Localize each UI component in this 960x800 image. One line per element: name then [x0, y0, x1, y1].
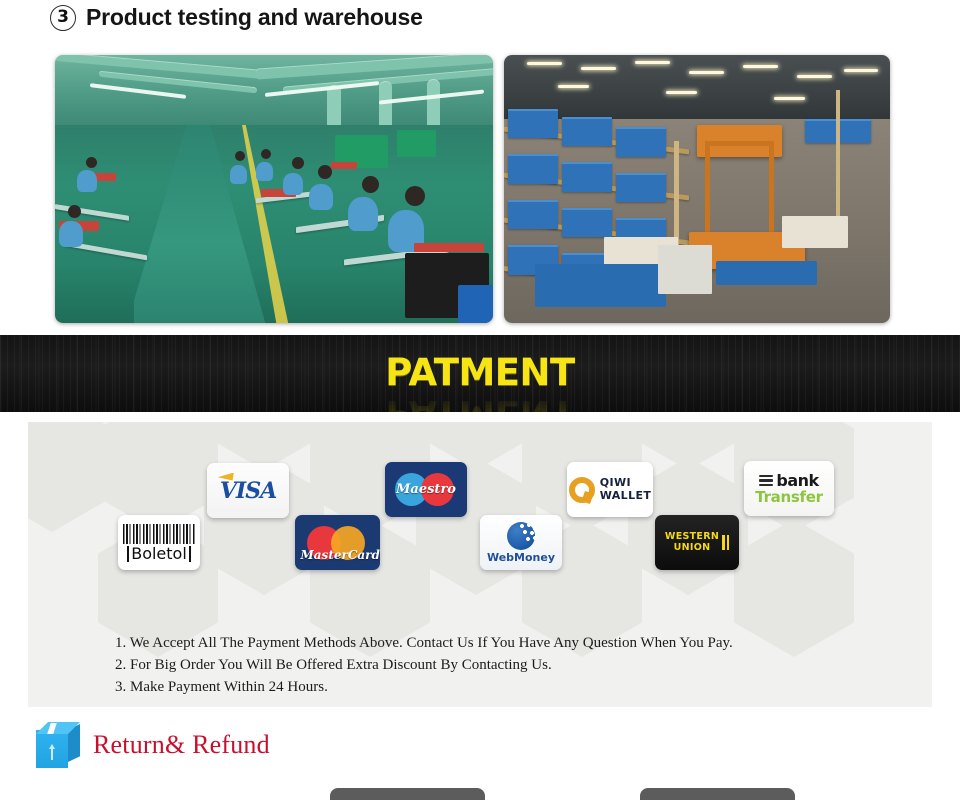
payment-method-qiwi[interactable]: QIWI WALLET [567, 462, 653, 517]
payment-banner-title: PATMENT [0, 351, 960, 394]
payment-method-western-union[interactable]: WESTERN UNION [655, 515, 739, 570]
payment-method-boleto[interactable]: Boletol [118, 515, 200, 570]
payment-method-label: VISA [220, 478, 276, 504]
payment-method-label: MasterCard [301, 548, 375, 562]
section-heading: 3 Product testing and warehouse [50, 4, 423, 31]
section-title: Product testing and warehouse [86, 4, 423, 31]
bank-label: bank [776, 473, 818, 489]
section-number-badge: 3 [50, 5, 76, 31]
bottom-tab-left[interactable] [330, 788, 485, 800]
maestro-icon: Maestro [391, 470, 461, 510]
webmoney-icon [507, 522, 535, 550]
payment-note: 1. We Accept All The Payment Methods Abo… [115, 632, 733, 654]
webmoney-pixels-icon [519, 523, 539, 543]
visa-icon: VISA [220, 478, 276, 504]
package-box-icon [36, 722, 80, 768]
product-detail-page: 3 Product testing and warehouse [0, 0, 960, 800]
mastercard-icon: MasterCard [301, 522, 375, 564]
qiwi-label-line1: QIWI [600, 477, 652, 490]
payment-notes: 1. We Accept All The Payment Methods Abo… [115, 632, 733, 698]
boleto-barcode-icon [123, 524, 195, 544]
western-union-icon: WESTERN UNION [665, 532, 729, 553]
bank-speed-lines-icon [759, 475, 773, 487]
bank-transfer-icon: bank [759, 473, 818, 489]
payment-method-visa[interactable]: VISA [207, 463, 289, 518]
transfer-label: Transfer [755, 490, 822, 505]
payment-method-maestro[interactable]: Maestro [385, 462, 467, 517]
payment-method-label: WebMoney [487, 551, 555, 564]
return-refund-title: Return& Refund [93, 730, 270, 760]
payment-method-webmoney[interactable]: WebMoney [480, 515, 562, 570]
western-union-bars-icon [722, 535, 729, 550]
payment-method-mastercard[interactable]: MasterCard [295, 515, 380, 570]
qiwi-wallet-icon [569, 477, 595, 503]
return-refund-section: Return& Refund [36, 722, 270, 768]
payment-method-label: QIWI WALLET [600, 477, 652, 502]
photo-warehouse-storage [504, 55, 890, 323]
payment-note: 2. For Big Order You Will Be Offered Ext… [115, 654, 733, 676]
wu-label-line2: UNION [665, 543, 719, 553]
payment-note: 3. Make Payment Within 24 Hours. [115, 676, 733, 698]
wu-label-line1: WESTERN [665, 532, 719, 542]
payment-method-label: Boletol [127, 546, 191, 562]
payment-banner-reflection: PATMENT [0, 392, 960, 412]
qiwi-label-line2: WALLET [600, 490, 652, 503]
payment-method-bank-transfer[interactable]: bank Transfer [744, 461, 834, 516]
payment-banner: PATMENT PATMENT [0, 335, 960, 412]
payment-method-label: WESTERN UNION [665, 532, 719, 553]
payment-method-label: Maestro [391, 482, 461, 497]
bottom-tab-right[interactable] [640, 788, 795, 800]
photo-factory-assembly-line [55, 55, 493, 323]
